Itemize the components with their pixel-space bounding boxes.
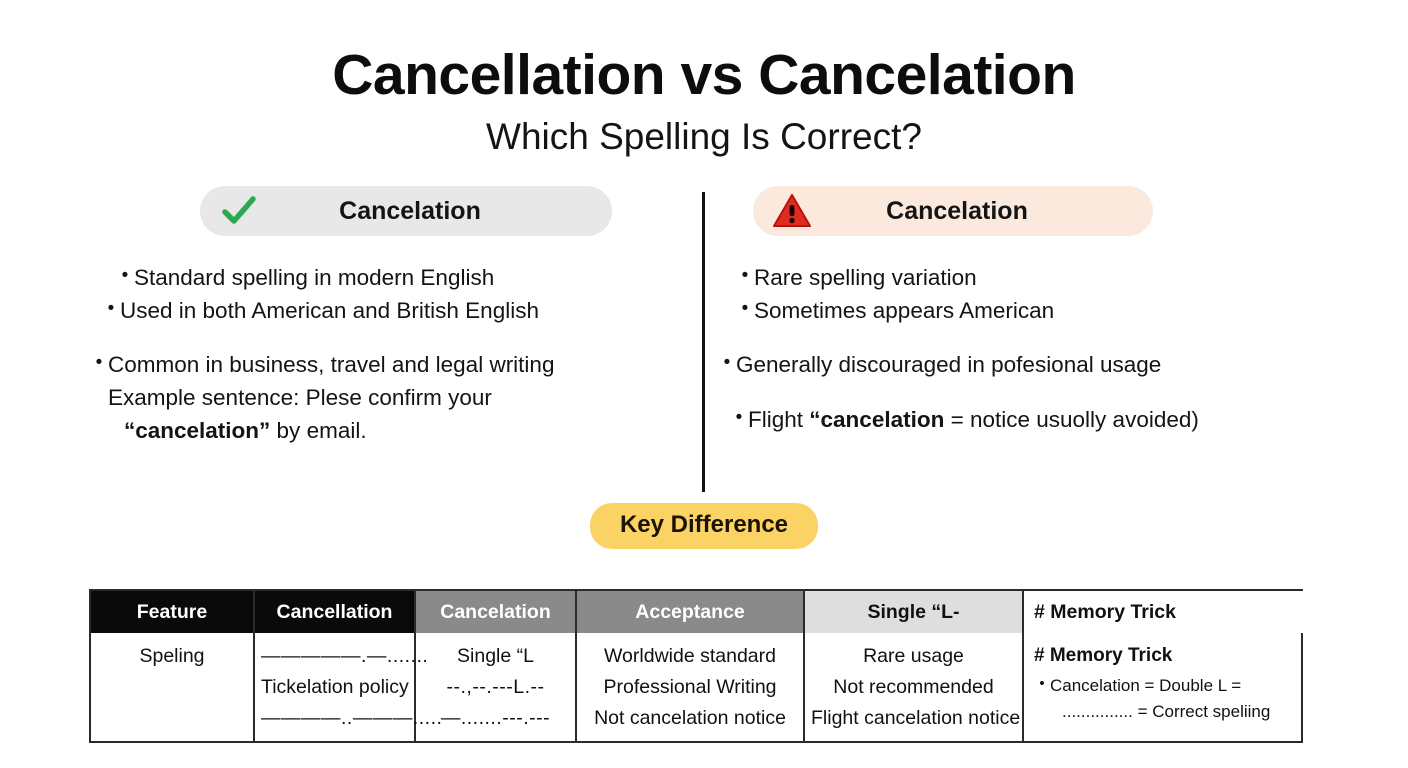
key-difference-badge: Key Difference (590, 503, 818, 549)
memory-trick-heading: # Memory Trick (1034, 641, 1299, 671)
warning-pill-label: Cancelation (813, 197, 1135, 226)
memory-trick-line-1: Cancelation = Double L = (1050, 673, 1241, 699)
cell-line: Not recommended (811, 672, 1016, 703)
cell-line: --.,--.---L.-- (422, 672, 569, 703)
page-title: Cancellation vs Cancelation (0, 46, 1408, 106)
warning-spelling-pill: Cancelation (753, 186, 1153, 236)
column-header-feature: Feature (91, 591, 254, 633)
column-header-single-l: Single “L- (804, 591, 1023, 633)
bullet-marker: • (116, 262, 134, 295)
list-item-label: Used in both American and British Englis… (120, 295, 690, 328)
vertical-divider (702, 192, 705, 492)
cell-line: Flight cancelation notice (811, 703, 1016, 734)
list-item: • Rare spelling variation (736, 262, 1318, 295)
bullet-marker: • (730, 404, 748, 437)
flight-prefix: Flight (748, 407, 809, 432)
comparison-table: Feature Cancellation Cancelation Accepta… (89, 589, 1303, 743)
list-item-label: Rare spelling variation (754, 262, 1318, 295)
quoted-term: “cancelation (809, 407, 944, 432)
left-column: Cancelation • Standard spelling in moder… (90, 186, 690, 447)
list-item-label: Standard spelling in modern English (134, 262, 690, 295)
cell-line: —————.—....... (261, 641, 408, 672)
key-difference-section: Key Difference (0, 503, 1408, 549)
correct-spelling-pill: Cancelation (200, 186, 612, 236)
cell-line: Rare usage (811, 641, 1016, 672)
list-item: • Generally discouraged in pofesional us… (718, 349, 1318, 382)
comparison-section: Cancelation • Standard spelling in moder… (0, 186, 1408, 491)
list-item: • Standard spelling in modern English (116, 262, 690, 295)
cell-feature: Speling (91, 633, 254, 741)
memory-trick-line-2: ............... = Correct speliing (1034, 699, 1299, 725)
cell-line: —.......---.--- (422, 703, 569, 734)
correct-pill-label: Cancelation (260, 197, 594, 226)
example-sentence-line: Example sentence: Plese confirm your (108, 382, 690, 415)
table-row: Speling —————.—....... Tickelation polic… (91, 633, 1305, 741)
memory-trick-bullet: • Cancelation = Double L = (1034, 673, 1299, 699)
title-block: Cancellation vs Cancelation Which Spelli… (0, 0, 1408, 160)
list-item-label: Common in business, travel and legal wri… (108, 349, 690, 447)
bullet-marker: • (736, 262, 754, 295)
flight-example: Flight “cancelation = notice usuolly avo… (748, 404, 1318, 437)
table-header-row: Feature Cancellation Cancelation Accepta… (91, 591, 1305, 633)
column-header-cancelation: Cancelation (415, 591, 576, 633)
check-icon (218, 196, 260, 226)
right-bullet-list: • Rare spelling variation • Sometimes ap… (718, 262, 1318, 437)
cell-acceptance: Worldwide standard Professional Writing … (576, 633, 804, 741)
list-item: • Common in business, travel and legal w… (90, 349, 690, 447)
list-item-text: Common in business, travel and legal wri… (108, 352, 554, 377)
cell-line: Professional Writing (583, 672, 797, 703)
example-sentence-quote-line: “cancelation” by email. (108, 415, 690, 448)
cell-line: Worldwide standard (583, 641, 797, 672)
flight-suffix: = notice usuolly avoided) (944, 407, 1199, 432)
cell-line: Tickelation policy (261, 672, 408, 703)
list-item-label: Generally discouraged in pofesional usag… (736, 349, 1318, 382)
column-header-cancellation: Cancellation (254, 591, 415, 633)
column-header-memory-trick: # Memory Trick (1023, 591, 1305, 633)
list-item: • Sometimes appears American (736, 295, 1318, 328)
bullet-marker: • (90, 349, 108, 447)
bullet-marker: • (736, 295, 754, 328)
left-bullet-list: • Standard spelling in modern English • … (90, 262, 690, 447)
cell-cancellation: —————.—....... Tickelation policy ————..… (254, 633, 415, 741)
warning-triangle-icon (771, 193, 813, 229)
list-item: • Used in both American and British Engl… (102, 295, 690, 328)
right-column: Cancelation • Rare spelling variation • … (718, 186, 1318, 437)
cell-memory-trick: # Memory Trick • Cancelation = Double L … (1023, 633, 1305, 741)
cell-line: Single “L (422, 641, 569, 672)
bullet-marker: • (102, 295, 120, 328)
bullet-marker: • (718, 349, 736, 382)
bullet-marker: • (1034, 673, 1050, 699)
cell-line: ————..———..... (261, 703, 408, 734)
cell-line: Not cancelation notice (583, 703, 797, 734)
example-sentence-suffix: by email. (270, 418, 366, 443)
page-subtitle: Which Spelling Is Correct? (0, 114, 1408, 160)
column-header-acceptance: Acceptance (576, 591, 804, 633)
list-item-label: Sometimes appears American (754, 295, 1318, 328)
list-item: • Flight “cancelation = notice usuolly a… (730, 404, 1318, 437)
cell-single-l: Rare usage Not recommended Flight cancel… (804, 633, 1023, 741)
quoted-term: “cancelation” (124, 418, 270, 443)
